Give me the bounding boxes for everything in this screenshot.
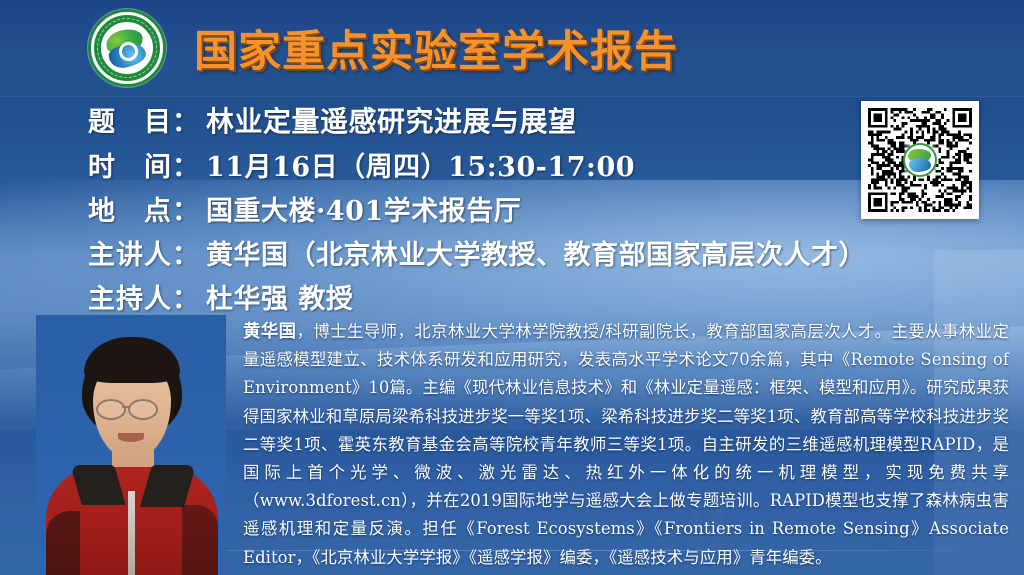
qr-center-emblem-icon: [903, 143, 937, 177]
speaker-biography: 黄华国，博士生导师，北京林业大学林学院教授/科研副院长，教育部国家高层次人才。主…: [243, 318, 1009, 572]
info-value-location: 国重大楼·401学术报告厅: [206, 189, 521, 228]
bio-speaker-name: 黄华国: [243, 322, 297, 342]
glasses-icon: [128, 399, 158, 420]
speaker-portrait: [36, 315, 226, 575]
poster-root: 国家重点实验室学术报告 题 目： 林业定量遥感研究进展与展望 时 间： 11月1…: [0, 0, 1024, 575]
info-label-time: 时 间：: [88, 145, 206, 184]
info-row-location: 地 点： 国重大楼·401学术报告厅: [88, 189, 878, 228]
glasses-icon: [96, 399, 126, 420]
info-value-host: 杜华强 教授: [206, 277, 353, 316]
event-info-list: 题 目： 林业定量遥感研究进展与展望 时 间： 11月16日（周四）15:30-…: [88, 100, 878, 321]
info-row-host: 主持人： 杜华强 教授: [88, 277, 878, 316]
header-band: 国家重点实验室学术报告: [0, 0, 1024, 96]
page-title: 国家重点实验室学术报告: [194, 17, 678, 79]
info-label-topic: 题 目：: [88, 100, 206, 139]
state-key-laboratory-emblem-icon: [88, 9, 166, 87]
bio-text: ，博士生导师，北京林业大学林学院教授/科研副院长，教育部国家高层次人才。主要从事…: [243, 322, 1009, 567]
info-label-speaker: 主讲人：: [88, 233, 206, 272]
info-row-time: 时 间： 11月16日（周四）15:30-17:00: [88, 145, 878, 184]
info-value-topic: 林业定量遥感研究进展与展望: [206, 100, 577, 140]
qr-code[interactable]: [861, 101, 979, 219]
info-label-host: 主持人：: [88, 277, 206, 316]
info-label-location: 地 点：: [88, 189, 206, 228]
info-row-topic: 题 目： 林业定量遥感研究进展与展望: [88, 100, 878, 140]
info-value-time: 11月16日（周四）15:30-17:00: [206, 145, 635, 184]
info-row-speaker: 主讲人： 黄华国（北京林业大学教授、教育部国家高层次人才）: [88, 233, 878, 272]
info-value-speaker: 黄华国（北京林业大学教授、教育部国家高层次人才）: [206, 233, 866, 272]
